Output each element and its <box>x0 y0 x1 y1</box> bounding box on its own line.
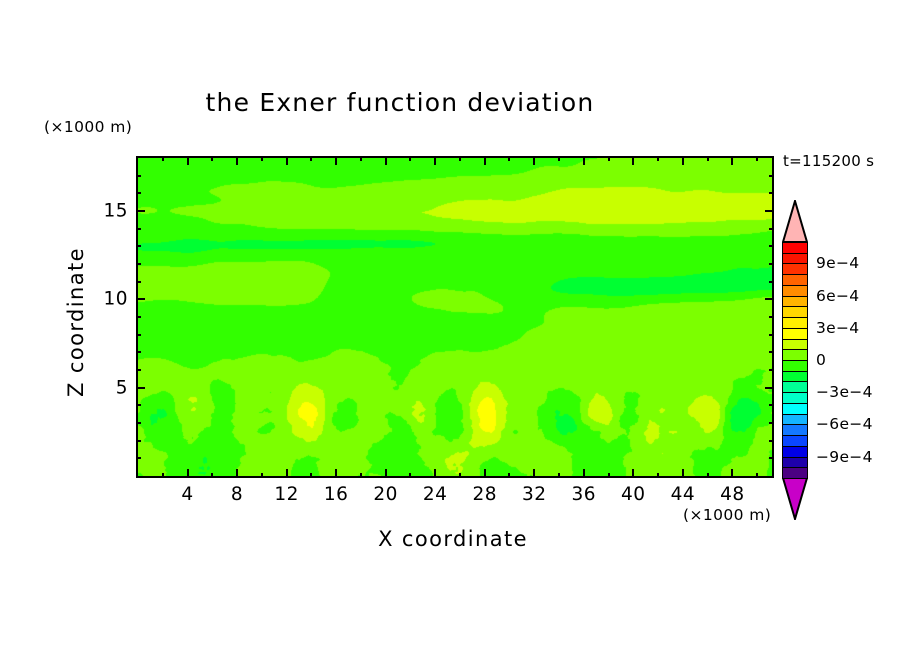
axis-tick <box>558 156 560 161</box>
colorbar-tick-label: 9e−4 <box>816 254 859 272</box>
axis-tick <box>261 473 263 478</box>
x-tick-label: 24 <box>423 484 448 505</box>
axis-tick <box>632 156 634 165</box>
axis-tick <box>769 334 774 336</box>
axis-tick <box>484 156 486 165</box>
axis-tick <box>769 245 774 247</box>
y-tick-label: 15 <box>103 201 128 222</box>
axis-tick <box>769 440 774 442</box>
x-tick-label: 4 <box>181 484 193 505</box>
axis-tick <box>707 156 709 161</box>
axis-tick <box>769 263 774 265</box>
axis-tick <box>765 298 774 300</box>
x-tick-label: 16 <box>324 484 349 505</box>
axis-tick <box>508 156 510 161</box>
axis-tick <box>769 228 774 230</box>
axis-tick <box>731 469 733 478</box>
axis-tick <box>136 422 141 424</box>
axis-tick <box>769 316 774 318</box>
axis-tick <box>136 298 145 300</box>
x-tick-label: 20 <box>373 484 398 505</box>
axis-tick <box>657 156 659 161</box>
axis-tick <box>769 281 774 283</box>
axis-tick <box>360 156 362 161</box>
axis-tick <box>211 473 213 478</box>
axis-tick <box>136 387 145 389</box>
colorbar[interactable]: 9e−46e−43e−40−3e−4−6e−4−9e−4 <box>782 200 808 520</box>
axis-tick <box>769 192 774 194</box>
axis-tick <box>682 469 684 478</box>
y-axis-title: Z coordinate <box>64 222 88 422</box>
axis-tick <box>608 156 610 161</box>
colorbar-tick-label: −9e−4 <box>816 448 873 466</box>
axis-tick <box>385 469 387 478</box>
axis-tick <box>187 156 189 165</box>
colorbar-bottom-arrow <box>782 478 808 520</box>
axis-tick <box>385 156 387 165</box>
axis-tick <box>769 422 774 424</box>
axis-tick <box>558 473 560 478</box>
colorbar-tick-label: 0 <box>816 351 826 369</box>
axis-tick <box>211 156 213 161</box>
axis-tick <box>136 334 141 336</box>
axis-tick <box>434 469 436 478</box>
axis-tick <box>769 457 774 459</box>
x-axis-units-label: (×1000 m) <box>683 506 771 524</box>
colorbar-tick-label: −3e−4 <box>816 383 873 401</box>
axis-tick <box>765 210 774 212</box>
x-tick-label: 44 <box>671 484 696 505</box>
x-tick-label: 40 <box>621 484 646 505</box>
axis-tick <box>136 457 141 459</box>
x-tick-label: 48 <box>720 484 745 505</box>
axis-tick <box>707 473 709 478</box>
axis-tick <box>508 473 510 478</box>
axis-tick <box>162 473 164 478</box>
axis-tick <box>136 210 145 212</box>
axis-tick <box>769 369 774 371</box>
colorbar-tick-label: 3e−4 <box>816 319 859 337</box>
axis-tick <box>136 228 141 230</box>
axis-tick <box>136 281 141 283</box>
axis-tick <box>409 473 411 478</box>
axis-tick <box>310 473 312 478</box>
axis-tick <box>136 440 141 442</box>
time-annotation: t=115200 s <box>783 152 874 170</box>
axis-tick <box>769 351 774 353</box>
axis-tick <box>409 156 411 161</box>
x-tick-label: 28 <box>472 484 497 505</box>
axis-tick <box>136 404 141 406</box>
axis-tick <box>335 469 337 478</box>
contour-plot-area[interactable] <box>136 156 774 478</box>
axis-tick <box>434 156 436 165</box>
colorbar-tick-label: 6e−4 <box>816 287 859 305</box>
axis-tick <box>187 469 189 478</box>
axis-tick <box>236 156 238 165</box>
axis-tick <box>459 473 461 478</box>
axis-tick <box>261 156 263 161</box>
x-axis-title: X coordinate <box>238 527 668 551</box>
axis-tick <box>769 404 774 406</box>
colorbar-tick-label: −6e−4 <box>816 415 873 433</box>
y-tick-label: 10 <box>103 289 128 310</box>
axis-tick <box>769 175 774 177</box>
axis-tick <box>136 316 141 318</box>
axis-tick <box>533 156 535 165</box>
x-tick-label: 12 <box>274 484 299 505</box>
axis-tick <box>136 175 141 177</box>
axis-tick <box>657 473 659 478</box>
x-tick-label: 36 <box>572 484 597 505</box>
axis-tick <box>484 469 486 478</box>
axis-tick <box>136 369 141 371</box>
axis-tick <box>162 156 164 161</box>
axis-tick <box>310 156 312 161</box>
x-tick-label: 8 <box>231 484 243 505</box>
axis-tick <box>756 156 758 161</box>
axis-tick <box>136 192 141 194</box>
axis-tick <box>286 156 288 165</box>
axis-tick <box>632 469 634 478</box>
axis-tick <box>756 473 758 478</box>
x-tick-label: 32 <box>522 484 547 505</box>
contour-field <box>138 158 772 476</box>
axis-tick <box>136 351 141 353</box>
axis-tick <box>608 473 610 478</box>
axis-tick <box>459 156 461 161</box>
axis-tick <box>765 387 774 389</box>
y-axis-units-label: (×1000 m) <box>44 118 132 136</box>
colorbar-top-arrow <box>782 200 808 242</box>
axis-tick <box>360 473 362 478</box>
axis-tick <box>731 156 733 165</box>
axis-tick <box>335 156 337 165</box>
axis-tick <box>136 263 141 265</box>
axis-tick <box>236 469 238 478</box>
axis-tick <box>286 469 288 478</box>
y-tick-label: 5 <box>116 377 128 398</box>
axis-tick <box>136 245 141 247</box>
axis-tick <box>583 156 585 165</box>
axis-tick <box>682 156 684 165</box>
axis-tick <box>583 469 585 478</box>
axis-tick <box>533 469 535 478</box>
page-title: the Exner function deviation <box>0 88 800 117</box>
